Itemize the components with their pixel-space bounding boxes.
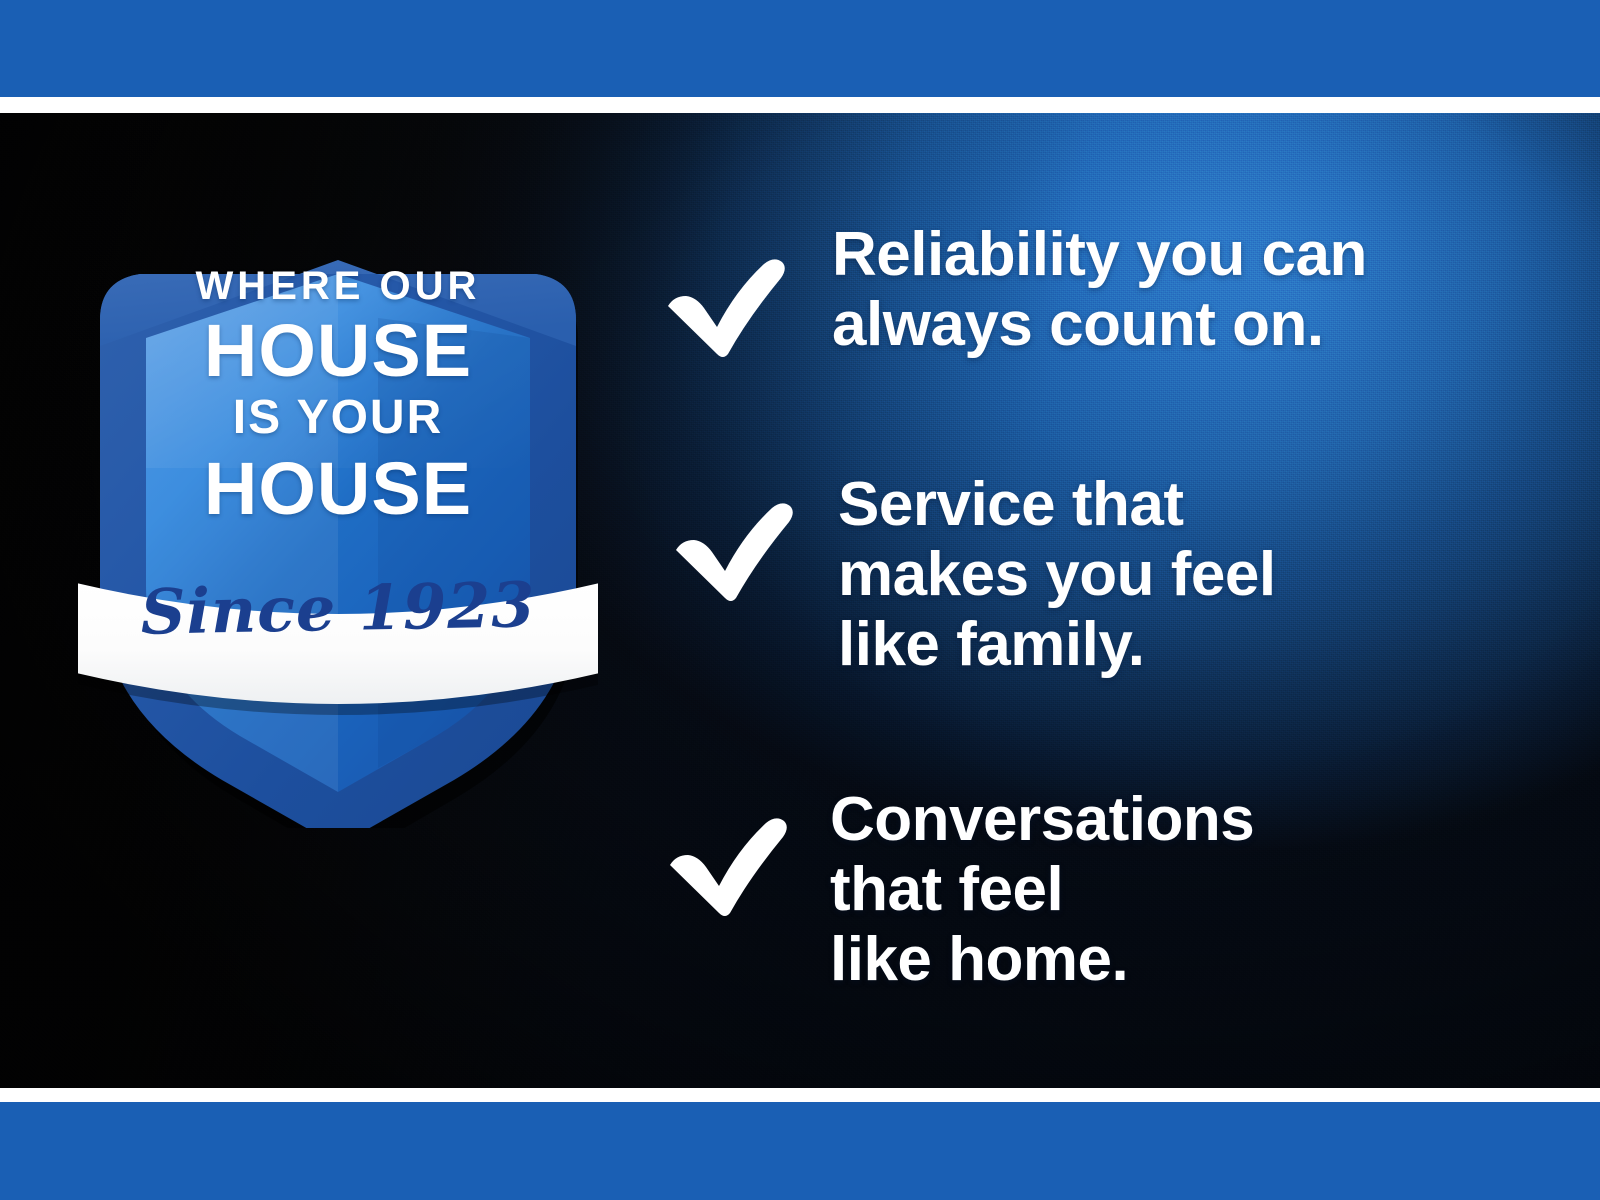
benefit-text: Reliability you can always count on. [832,220,1367,360]
bottom-white-divider [0,1088,1600,1102]
check-icon [662,807,792,995]
benefit-item: Service that makes you feel like family. [668,470,1276,680]
benefit-item: Reliability you can always count on. [660,220,1367,360]
benefit-item: Conversations that feel like home. [662,785,1254,995]
top-white-divider [0,97,1600,113]
shield-badge-icon [78,168,598,828]
check-icon [668,492,798,680]
benefit-text: Conversations that feel like home. [830,785,1254,995]
shield-badge: WHERE OUR HOUSE IS YOUR HOUSE Since 1923 [78,168,598,828]
check-icon [660,248,790,360]
promo-graphic: WHERE OUR HOUSE IS YOUR HOUSE Since 1923… [0,0,1600,1200]
benefit-text: Service that makes you feel like family. [838,470,1276,680]
top-brand-bar [0,0,1600,97]
bottom-brand-bar [0,1102,1600,1200]
